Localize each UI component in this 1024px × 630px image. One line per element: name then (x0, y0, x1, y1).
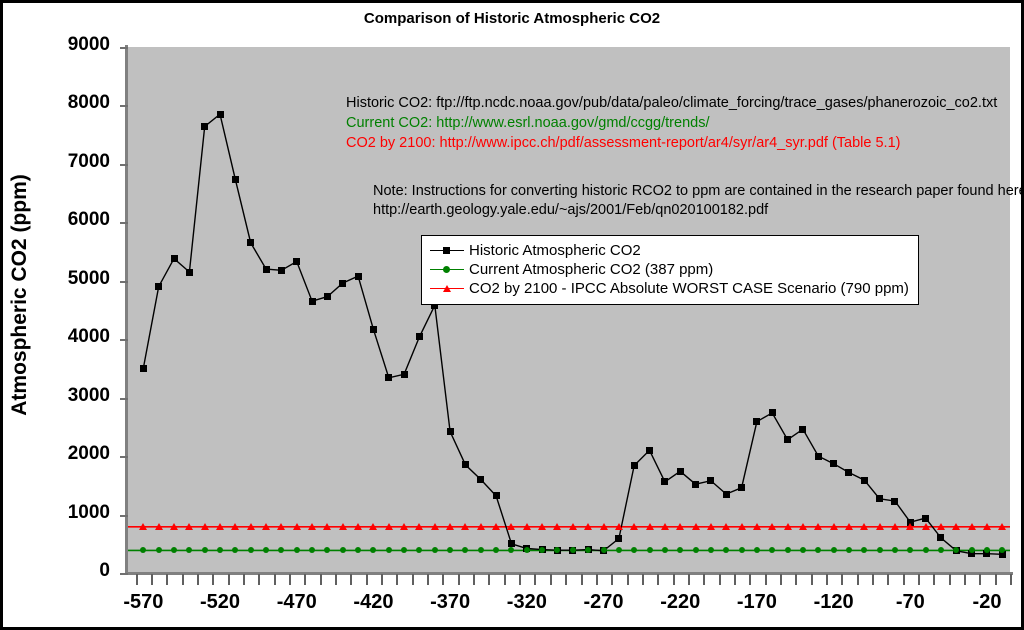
x-tick (504, 574, 506, 585)
data-point-historic (493, 492, 500, 499)
y-tick (120, 47, 128, 49)
x-tick (857, 574, 859, 585)
data-point-future (262, 523, 270, 530)
x-tick (274, 574, 276, 585)
x-tick (872, 574, 874, 585)
x-tick (688, 574, 690, 585)
data-point-future (998, 523, 1006, 530)
x-tick (627, 574, 629, 585)
data-point-historic (692, 481, 699, 488)
x-tick (918, 574, 920, 585)
data-point-future (753, 523, 761, 530)
data-point-historic (646, 447, 653, 454)
chart-legend: Historic Atmospheric CO2 Current Atmosph… (421, 235, 919, 305)
legend-item-historic: Historic Atmospheric CO2 (430, 241, 909, 260)
y-tick (120, 105, 128, 107)
data-point-future (201, 523, 209, 530)
data-point-future (323, 523, 331, 530)
x-tick (596, 574, 598, 585)
data-point-future (661, 523, 669, 530)
data-point-future (860, 523, 868, 530)
data-point-future (707, 523, 715, 530)
x-tick (811, 574, 813, 585)
note-line-1: Note: Instructions for converting histor… (373, 182, 1024, 201)
data-point-historic (462, 461, 469, 468)
data-point-historic (247, 239, 254, 246)
x-tick (166, 574, 168, 585)
data-point-current (739, 547, 745, 553)
data-point-current (785, 547, 791, 553)
data-point-historic (615, 535, 622, 542)
legend-label-current: Current Atmospheric CO2 (387 ppm) (469, 261, 713, 278)
x-tick (642, 574, 644, 585)
y-axis (125, 45, 128, 575)
data-point-historic (416, 333, 423, 340)
data-point-future (968, 523, 976, 530)
legend-label-future: CO2 by 2100 - IPCC Absolute WORST CASE S… (469, 280, 909, 297)
data-point-historic (263, 266, 270, 273)
data-point-historic (508, 540, 515, 547)
data-point-future (170, 523, 178, 530)
x-tick (841, 574, 843, 585)
x-tick (151, 574, 153, 585)
data-point-historic (845, 469, 852, 476)
data-point-future (231, 523, 239, 530)
data-point-historic (278, 267, 285, 274)
x-tick (765, 574, 767, 585)
x-tick (581, 574, 583, 585)
y-tick-label: 0 (10, 560, 110, 582)
data-point-historic (309, 298, 316, 305)
y-tick (120, 515, 128, 517)
data-point-historic (784, 436, 791, 443)
data-point-future (461, 523, 469, 530)
data-point-historic (401, 371, 408, 378)
data-point-future (814, 523, 822, 530)
x-tick (396, 574, 398, 585)
x-tick (550, 574, 552, 585)
data-point-current (647, 547, 653, 553)
data-point-historic (753, 418, 760, 425)
x-tick (749, 574, 751, 585)
data-point-future (277, 523, 285, 530)
data-point-historic (891, 498, 898, 505)
data-point-historic (876, 495, 883, 502)
data-point-future (768, 523, 776, 530)
x-tick (366, 574, 368, 585)
data-point-future (952, 523, 960, 530)
data-point-historic (186, 269, 193, 276)
x-tick (243, 574, 245, 585)
x-tick (1010, 574, 1012, 585)
data-point-historic (324, 293, 331, 300)
x-tick (703, 574, 705, 585)
y-tick (120, 573, 128, 575)
data-point-current (601, 547, 607, 553)
source-annotations: Historic CO2: ftp://ftp.ncdc.noaa.gov/pu… (346, 93, 997, 153)
data-point-future (216, 523, 224, 530)
triangle-marker-icon (430, 283, 464, 295)
x-tick (182, 574, 184, 585)
data-point-historic (723, 491, 730, 498)
data-point-historic (815, 453, 822, 460)
data-point-future (507, 523, 515, 530)
y-tick (120, 339, 128, 341)
legend-item-future: CO2 by 2100 - IPCC Absolute WORST CASE S… (430, 279, 909, 298)
data-point-future (339, 523, 347, 530)
data-point-historic (707, 477, 714, 484)
data-point-future (446, 523, 454, 530)
x-tick (887, 574, 889, 585)
data-point-future (615, 523, 623, 530)
source-current: Current CO2: http://www.esrl.noaa.gov/gm… (346, 113, 997, 133)
data-point-historic (661, 478, 668, 485)
data-point-historic (937, 534, 944, 541)
data-point-future (922, 523, 930, 530)
source-future: CO2 by 2100: http://www.ipcc.ch/pdf/asse… (346, 133, 997, 153)
x-tick (826, 574, 828, 585)
data-point-future (906, 523, 914, 530)
data-point-future (784, 523, 792, 530)
x-tick (488, 574, 490, 585)
x-tick (289, 574, 291, 585)
x-tick (320, 574, 322, 585)
data-point-historic (769, 409, 776, 416)
x-tick (565, 574, 567, 585)
data-point-future (523, 523, 531, 530)
data-point-future (876, 523, 884, 530)
data-point-historic (861, 477, 868, 484)
data-point-future (293, 523, 301, 530)
x-tick (228, 574, 230, 585)
data-point-future (584, 523, 592, 530)
data-point-future (845, 523, 853, 530)
data-point-future (692, 523, 700, 530)
y-axis-title: Atmospheric CO2 (ppm) (8, 35, 32, 555)
data-point-historic (677, 468, 684, 475)
x-tick (903, 574, 905, 585)
data-point-future (937, 523, 945, 530)
data-point-future (492, 523, 500, 530)
note-annotation: Note: Instructions for converting histor… (373, 182, 1024, 220)
x-tick (381, 574, 383, 585)
data-point-future (354, 523, 362, 530)
data-point-future (891, 523, 899, 530)
x-tick (136, 574, 138, 585)
data-point-future (983, 523, 991, 530)
data-point-future (830, 523, 838, 530)
data-point-future (155, 523, 163, 530)
data-point-historic (293, 258, 300, 265)
source-historic: Historic CO2: ftp://ftp.ncdc.noaa.gov/pu… (346, 93, 997, 113)
data-point-future (308, 523, 316, 530)
data-point-historic (355, 273, 362, 280)
x-tick (197, 574, 199, 585)
square-marker-icon (430, 245, 464, 257)
y-tick (120, 456, 128, 458)
data-point-historic (830, 460, 837, 467)
x-tick (949, 574, 951, 585)
data-point-future (799, 523, 807, 530)
chart-figure: Comparison of Historic Atmospheric CO2 H… (0, 0, 1024, 630)
data-point-historic (140, 365, 147, 372)
x-tick (519, 574, 521, 585)
data-point-future (185, 523, 193, 530)
data-point-future (369, 523, 377, 530)
x-tick (350, 574, 352, 585)
x-tick (780, 574, 782, 585)
x-tick (458, 574, 460, 585)
x-tick (734, 574, 736, 585)
data-point-historic (631, 462, 638, 469)
data-point-historic (171, 255, 178, 262)
x-tick (335, 574, 337, 585)
data-point-historic (738, 484, 745, 491)
data-point-current (693, 547, 699, 553)
data-point-future (646, 523, 654, 530)
data-point-historic (385, 374, 392, 381)
data-point-historic (799, 426, 806, 433)
data-point-future (415, 523, 423, 530)
data-point-future (569, 523, 577, 530)
legend-label-historic: Historic Atmospheric CO2 (469, 242, 641, 259)
data-point-historic (477, 476, 484, 483)
x-tick (534, 574, 536, 585)
x-tick (304, 574, 306, 585)
x-tick (412, 574, 414, 585)
data-point-future (247, 523, 255, 530)
x-tick (795, 574, 797, 585)
data-point-future (400, 523, 408, 530)
data-point-historic (922, 515, 929, 522)
x-tick (673, 574, 675, 585)
y-tick (120, 281, 128, 283)
y-tick (120, 164, 128, 166)
x-tick (964, 574, 966, 585)
diamond-marker-icon (430, 264, 464, 276)
data-point-future (385, 523, 393, 530)
data-point-historic (370, 326, 377, 333)
x-tick (933, 574, 935, 585)
y-tick (120, 222, 128, 224)
x-tick (258, 574, 260, 585)
data-point-future (722, 523, 730, 530)
x-tick (611, 574, 613, 585)
data-point-future (553, 523, 561, 530)
x-tick (473, 574, 475, 585)
data-point-historic (447, 428, 454, 435)
data-point-future (600, 523, 608, 530)
data-point-historic (217, 111, 224, 118)
data-point-future (477, 523, 485, 530)
x-tick (212, 574, 214, 585)
x-tick (657, 574, 659, 585)
data-point-current (831, 547, 837, 553)
x-tick (995, 574, 997, 585)
data-point-historic (232, 176, 239, 183)
page-title: Comparison of Historic Atmospheric CO2 (3, 10, 1021, 27)
data-point-future (676, 523, 684, 530)
legend-item-current: Current Atmospheric CO2 (387 ppm) (430, 260, 909, 279)
note-line-2: http://earth.geology.yale.edu/~ajs/2001/… (373, 201, 1024, 220)
data-point-future (431, 523, 439, 530)
data-point-historic (201, 123, 208, 130)
data-point-future (538, 523, 546, 530)
plot-area: Historic CO2: ftp://ftp.ncdc.noaa.gov/pu… (128, 47, 1010, 573)
data-point-future (738, 523, 746, 530)
data-point-current (877, 547, 883, 553)
x-tick (442, 574, 444, 585)
data-point-future (139, 523, 147, 530)
data-point-future (630, 523, 638, 530)
x-tick (427, 574, 429, 585)
y-tick (120, 398, 128, 400)
x-tick-label: -20 (942, 591, 1024, 614)
x-tick (979, 574, 981, 585)
data-point-historic (339, 280, 346, 287)
data-point-historic (155, 283, 162, 290)
x-tick (719, 574, 721, 585)
